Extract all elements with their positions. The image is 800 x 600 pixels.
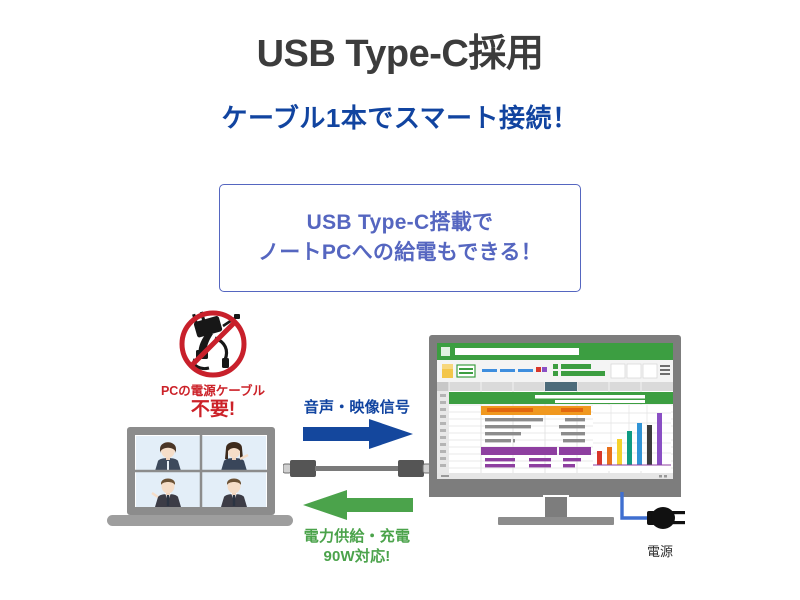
power-flow-arrow-left-icon (303, 490, 413, 520)
laptop-icon (105, 425, 295, 530)
power-plug-label: 電源 (620, 541, 700, 560)
page-subtitle: ケーブル1本でスマート接続！ (0, 104, 800, 133)
page-title: USB Type-C採用 (0, 34, 800, 76)
signal-flow-arrow-right-icon (303, 419, 413, 449)
signal-flow-label: 音声・映像信号 (281, 396, 433, 417)
power-flow-label: 電力供給・充電 90W対応! (277, 527, 437, 568)
callout-line-2: ノートPCへの給電もできる！ (258, 238, 542, 268)
no-power-cable-icon (133, 310, 293, 382)
callout-line-1: USB Type-C搭載で (307, 208, 494, 238)
callout-box: USB Type-C搭載で ノートPCへの給電もできる！ (219, 184, 581, 292)
power-plug-icon (614, 492, 694, 542)
usb-c-cable-icon (283, 455, 431, 481)
embedded-bar-chart (593, 405, 671, 471)
power-flow-label-line-1: 電力供給・充電 (277, 527, 437, 547)
no-power-cable-text-line-1: PCの電源ケーブル (133, 384, 293, 399)
no-power-cable-text-line-2: 不要! (133, 399, 293, 421)
power-flow-label-line-2: 90W対応! (277, 547, 437, 567)
no-power-cable-badge: PCの電源ケーブル 不要! (133, 310, 293, 421)
